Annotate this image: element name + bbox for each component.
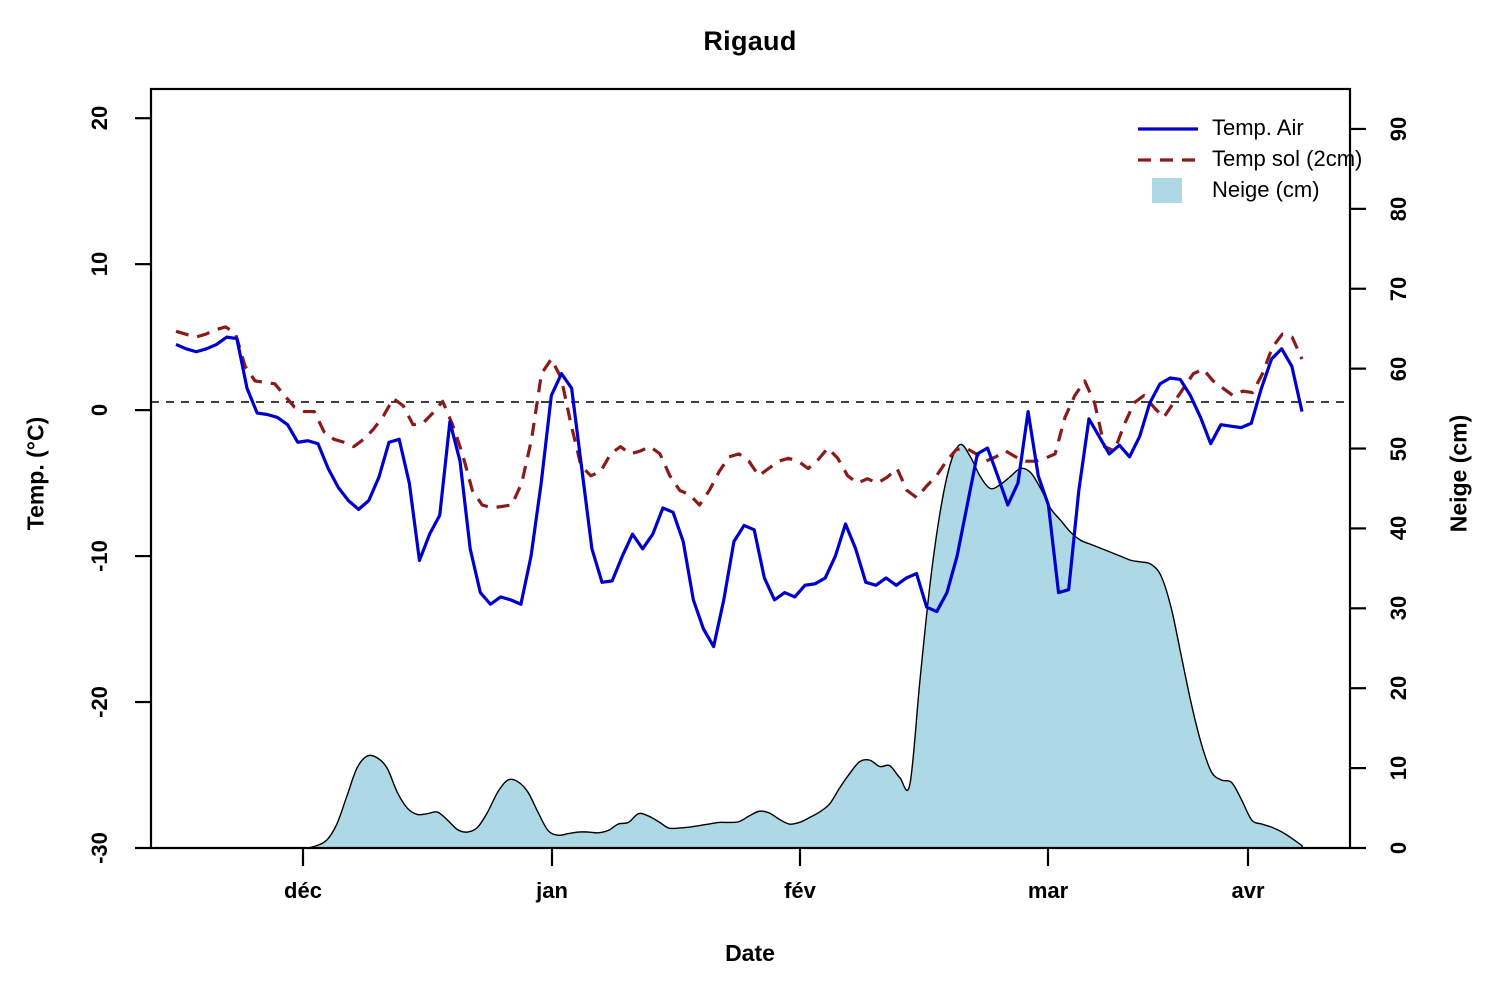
y-tick-label-left: 10 (87, 234, 113, 294)
legend-label: Temp sol (2cm) (1212, 146, 1362, 172)
y-tick-label-right: 80 (1386, 184, 1412, 234)
x-tick-label: déc (243, 878, 363, 904)
soil-temp-line (176, 327, 1302, 508)
y-tick-label-right: 20 (1386, 663, 1412, 713)
y-tick-label-right: 50 (1386, 424, 1412, 474)
y-tick-label-right: 30 (1386, 583, 1412, 633)
snow-area-series (176, 444, 1302, 848)
y-axis-title-right: Neige (cm) (1445, 415, 1472, 533)
y-tick-label-right: 60 (1386, 344, 1412, 394)
y-axis-title-left: Temp. (°C) (22, 417, 49, 531)
y-tick-label-left: -10 (87, 526, 113, 586)
y-tick-label-right: 0 (1386, 823, 1412, 873)
snow-fill (176, 444, 1302, 848)
legend-label: Neige (cm) (1212, 177, 1320, 203)
legend-marker-snow (1152, 178, 1182, 203)
y-tick-label-left: 20 (87, 88, 113, 148)
x-tick-label: avr (1188, 878, 1308, 904)
x-axis-title: Date (0, 940, 1500, 967)
y-tick-label-right: 40 (1386, 503, 1412, 553)
y-tick-label-right: 90 (1386, 104, 1412, 154)
legend-markers (1138, 129, 1198, 203)
x-tick-label: fév (740, 878, 860, 904)
y-tick-label-left: -20 (87, 672, 113, 732)
y-tick-label-right: 10 (1386, 743, 1412, 793)
y-tick-label-left: 0 (87, 380, 113, 440)
legend-label: Temp. Air (1212, 115, 1304, 141)
x-tick-label: mar (988, 878, 1108, 904)
x-tick-label: jan (492, 878, 612, 904)
y-tick-label-right: 70 (1386, 264, 1412, 314)
y-tick-label-left: -30 (87, 818, 113, 878)
chart-page: Rigaud Temp. (°C) Neige (cm) Date 20100-… (0, 0, 1500, 1000)
